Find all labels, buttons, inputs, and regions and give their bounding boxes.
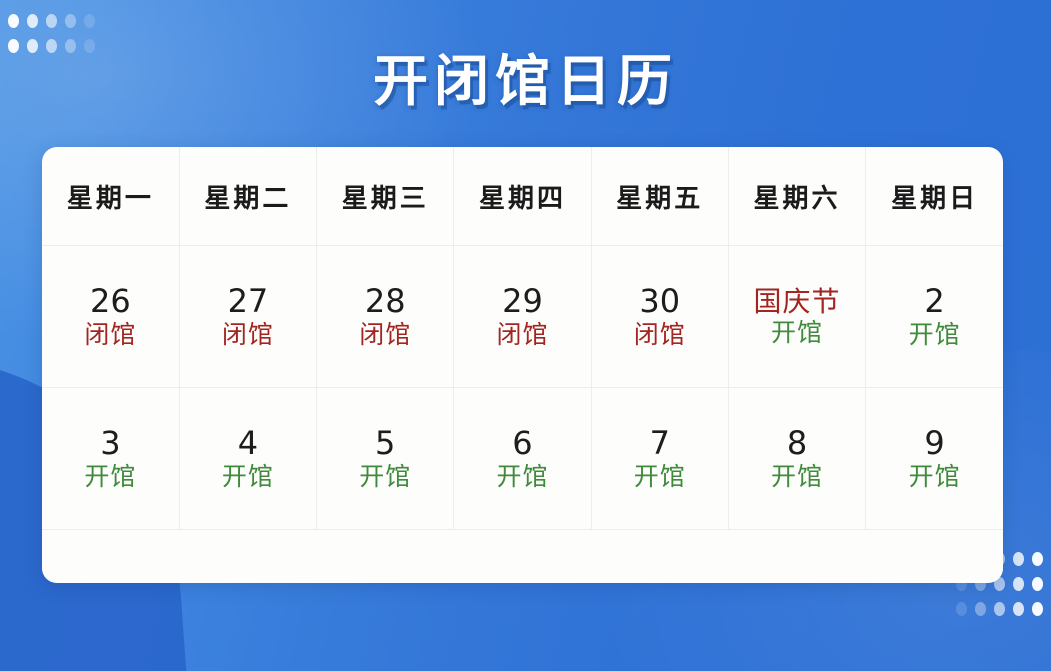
decorative-dot <box>994 602 1005 616</box>
top-left-dot-row <box>8 14 103 28</box>
day-status-badge: 闭馆 <box>359 321 411 349</box>
day-number: 8 <box>787 426 807 462</box>
decorative-dot <box>27 14 38 28</box>
day-status-badge: 闭馆 <box>496 321 548 349</box>
calendar-day-cell[interactable]: 8开馆 <box>728 388 865 530</box>
weekday-header-7: 星期日 <box>866 147 1003 246</box>
calendar-week-row: 3开馆4开馆5开馆6开馆7开馆8开馆9开馆 <box>42 388 1003 530</box>
day-cell-content: 2开馆 <box>866 246 1003 387</box>
calendar-body: 26闭馆27闭馆28闭馆29闭馆30闭馆国庆节开馆2开馆3开馆4开馆5开馆6开馆… <box>42 246 1003 530</box>
calendar-day-cell[interactable]: 5开馆 <box>317 388 454 530</box>
day-status-badge: 开馆 <box>634 463 686 491</box>
weekday-header-6: 星期六 <box>728 147 865 246</box>
decorative-dot <box>975 602 986 616</box>
day-cell-content: 7开馆 <box>592 388 728 529</box>
day-number: 29 <box>502 284 543 320</box>
page-title: 开闭馆日历 <box>0 36 1051 116</box>
decorative-dot <box>8 14 19 28</box>
decorative-dot <box>1032 602 1043 616</box>
calendar-day-cell[interactable]: 28闭馆 <box>317 246 454 388</box>
day-cell-content: 9开馆 <box>866 388 1003 529</box>
decorative-dot <box>84 14 95 28</box>
day-status-badge: 闭馆 <box>222 321 274 349</box>
decorative-dot <box>46 14 57 28</box>
decorative-dot <box>65 14 76 28</box>
day-cell-content: 国庆节开馆 <box>729 246 865 387</box>
day-number: 7 <box>650 426 670 462</box>
calendar-poster: 开闭馆日历 星期一星期二星期三星期四星期五星期六星期日 26闭馆27闭馆28闭馆… <box>0 0 1051 671</box>
day-number: 30 <box>639 284 680 320</box>
day-status-badge: 开馆 <box>84 463 136 491</box>
calendar-day-cell[interactable]: 9开馆 <box>866 388 1003 530</box>
weekday-header-4: 星期四 <box>454 147 591 246</box>
calendar-table: 星期一星期二星期三星期四星期五星期六星期日 26闭馆27闭馆28闭馆29闭馆30… <box>42 147 1003 530</box>
day-status-badge: 开馆 <box>909 321 961 349</box>
day-cell-content: 27闭馆 <box>180 246 316 387</box>
day-cell-content: 3开馆 <box>42 388 179 529</box>
day-cell-content: 26闭馆 <box>42 246 179 387</box>
calendar-day-cell[interactable]: 4开馆 <box>179 388 316 530</box>
day-number: 4 <box>238 426 258 462</box>
day-number: 6 <box>512 426 532 462</box>
calendar-card: 星期一星期二星期三星期四星期五星期六星期日 26闭馆27闭馆28闭馆29闭馆30… <box>42 147 1003 583</box>
day-cell-content: 8开馆 <box>729 388 865 529</box>
weekday-header-5: 星期五 <box>591 147 728 246</box>
day-cell-content: 30闭馆 <box>592 246 728 387</box>
day-number: 5 <box>375 426 395 462</box>
decorative-dot <box>1032 552 1043 566</box>
day-cell-content: 4开馆 <box>180 388 316 529</box>
day-cell-content: 29闭馆 <box>454 246 590 387</box>
day-cell-content: 6开馆 <box>454 388 590 529</box>
day-status-badge: 闭馆 <box>634 321 686 349</box>
calendar-header-row: 星期一星期二星期三星期四星期五星期六星期日 <box>42 147 1003 246</box>
decorative-dot <box>956 602 967 616</box>
calendar-card-footer <box>42 530 1003 582</box>
day-status-badge: 闭馆 <box>84 321 136 349</box>
day-number: 27 <box>228 284 269 320</box>
day-number: 28 <box>365 284 406 320</box>
weekday-header-1: 星期一 <box>42 147 179 246</box>
weekday-header-2: 星期二 <box>179 147 316 246</box>
decorative-dot <box>1013 602 1024 616</box>
decorative-dot <box>1032 577 1043 591</box>
decorative-dot <box>1013 552 1024 566</box>
day-number: 26 <box>90 284 131 320</box>
calendar-day-cell[interactable]: 2开馆 <box>866 246 1003 388</box>
calendar-day-cell[interactable]: 3开馆 <box>42 388 179 530</box>
calendar-day-cell[interactable]: 30闭馆 <box>591 246 728 388</box>
calendar-day-cell[interactable]: 26闭馆 <box>42 246 179 388</box>
calendar-day-cell[interactable]: 29闭馆 <box>454 246 591 388</box>
calendar-day-cell[interactable]: 27闭馆 <box>179 246 316 388</box>
day-cell-content: 28闭馆 <box>317 246 453 387</box>
holiday-label: 国庆节 <box>754 286 841 317</box>
weekday-header-3: 星期三 <box>317 147 454 246</box>
calendar-day-cell[interactable]: 7开馆 <box>591 388 728 530</box>
day-number: 2 <box>924 284 944 320</box>
day-number: 9 <box>924 426 944 462</box>
day-status-badge: 开馆 <box>909 463 961 491</box>
bottom-right-dot-row <box>948 602 1043 616</box>
day-status-badge: 开馆 <box>359 463 411 491</box>
day-status-badge: 开馆 <box>771 463 823 491</box>
day-status-badge: 开馆 <box>222 463 274 491</box>
calendar-week-row: 26闭馆27闭馆28闭馆29闭馆30闭馆国庆节开馆2开馆 <box>42 246 1003 388</box>
calendar-day-cell[interactable]: 国庆节开馆 <box>728 246 865 388</box>
calendar-day-cell[interactable]: 6开馆 <box>454 388 591 530</box>
day-status-badge: 开馆 <box>771 319 823 347</box>
day-number: 3 <box>100 426 120 462</box>
decorative-dot <box>1013 577 1024 591</box>
day-cell-content: 5开馆 <box>317 388 453 529</box>
day-status-badge: 开馆 <box>496 463 548 491</box>
